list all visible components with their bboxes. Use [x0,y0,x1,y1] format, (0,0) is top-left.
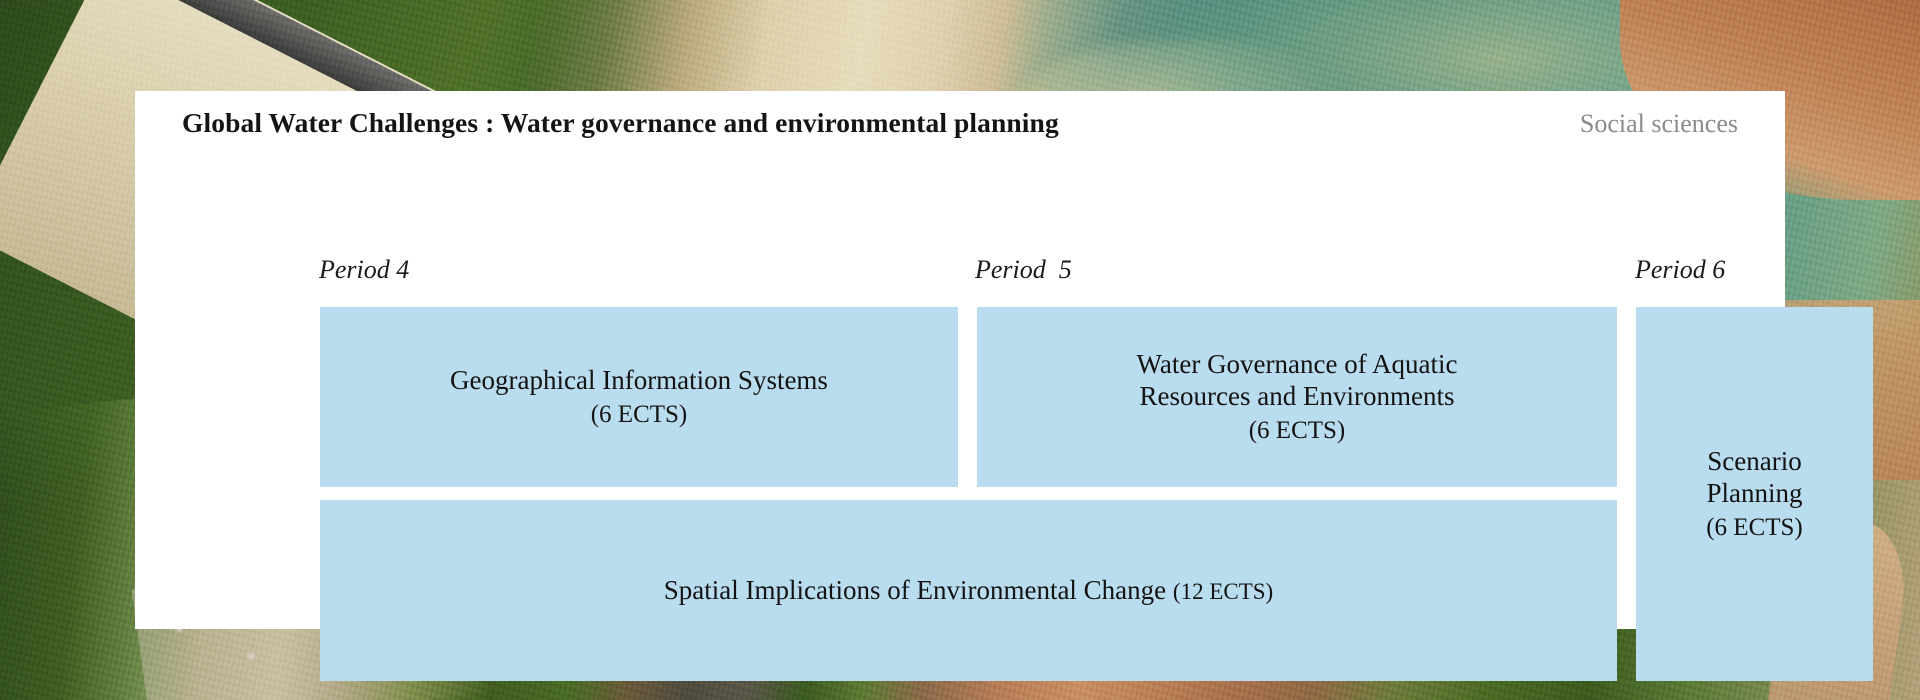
course-credits: (6 ECTS) [1706,514,1803,541]
screenshot-stage: Global Water Challenges : Water governan… [0,0,1920,700]
period-label-6: Period 6 [1635,255,1725,285]
page-title: Global Water Challenges : Water governan… [182,107,1059,139]
course-box-scenario-planning[interactable]: Scenario Planning (6 ECTS) [1636,307,1873,681]
course-name: Geographical Information Systems [450,365,828,395]
course-name: Spatial Implications of Environmental Ch… [664,575,1166,605]
course-text: Scenario Planning (6 ECTS) [1706,445,1803,544]
course-name-line-1: Water Governance of Aquatic [1137,349,1458,379]
subject-area-label: Social sciences [1580,109,1738,139]
course-text: Water Governance of Aquatic Resources an… [1137,348,1458,447]
course-credits: (6 ECTS) [591,401,688,428]
course-text: Geographical Information Systems (6 ECTS… [450,364,828,430]
course-box-geographical-information-systems[interactable]: Geographical Information Systems (6 ECTS… [320,307,958,487]
course-name-line-1: Scenario [1707,446,1801,476]
course-box-water-governance-of-aquatic-resources-and-environments[interactable]: Water Governance of Aquatic Resources an… [977,307,1617,487]
course-credits: (12 ECTS) [1173,579,1273,604]
programme-card: Global Water Challenges : Water governan… [135,91,1785,629]
period-label-4: Period 4 [319,255,409,285]
course-box-spatial-implications-of-environmental-change[interactable]: Spatial Implications of Environmental Ch… [320,500,1617,681]
course-text: Spatial Implications of Environmental Ch… [664,574,1273,607]
course-name-line-2: Resources and Environments [1140,381,1455,411]
course-name-line-2: Planning [1706,478,1802,508]
course-credits: (6 ECTS) [1249,417,1346,444]
period-label-5: Period 5 [975,255,1072,285]
card-header: Global Water Challenges : Water governan… [182,107,1738,155]
